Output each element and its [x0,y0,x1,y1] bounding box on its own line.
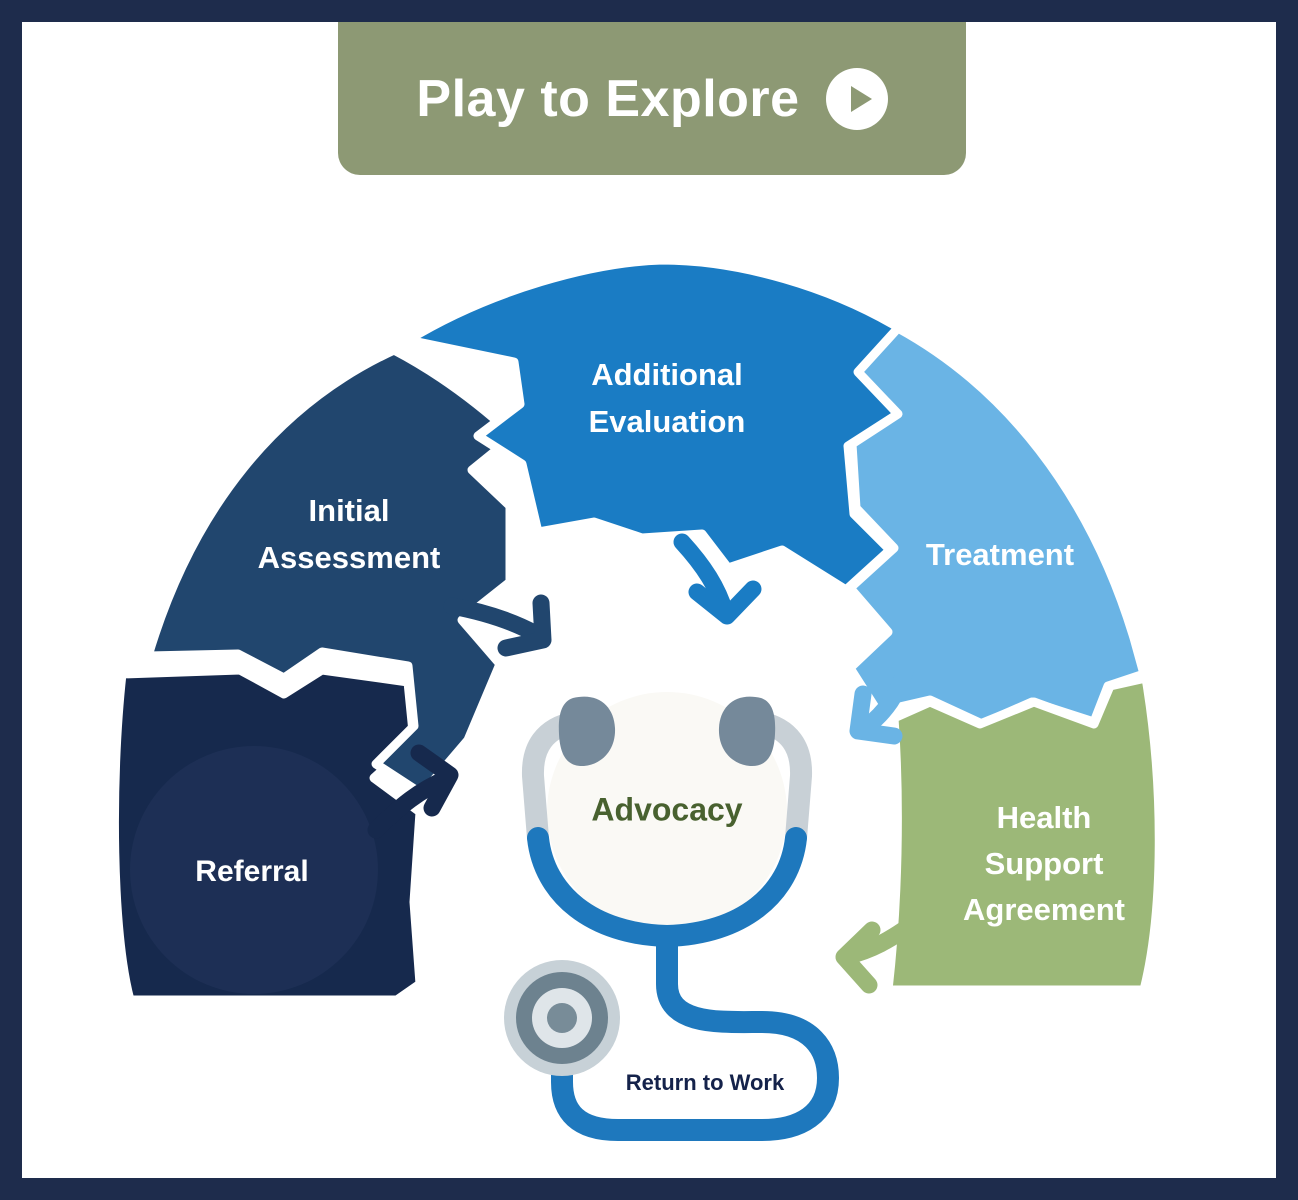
segment-treatment[interactable]: Treatment [850,328,1144,724]
infographic-page: Referral Initial Assessment Additional E… [0,0,1298,1200]
segment-health-support-agreement-shape[interactable] [888,678,1159,990]
stethoscope-chestpiece-icon [504,960,620,1076]
return-to-work-label: Return to Work [626,1070,785,1095]
diagram-canvas: Referral Initial Assessment Additional E… [22,22,1276,1178]
segment-treatment-shape[interactable] [850,328,1144,724]
play-icon[interactable] [826,68,888,130]
segment-health-support-agreement[interactable]: Health Support Agreement [888,678,1159,990]
play-to-explore-label: Play to Explore [416,73,799,125]
play-to-explore-button[interactable]: Play to Explore [338,22,966,175]
referral-circle-accent [130,746,378,994]
stethoscope-icon: Advocacy [504,692,828,1130]
advocacy-label: Advocacy [591,791,742,827]
care-pathway-wheel: Referral Initial Assessment Additional E… [22,22,1276,1178]
